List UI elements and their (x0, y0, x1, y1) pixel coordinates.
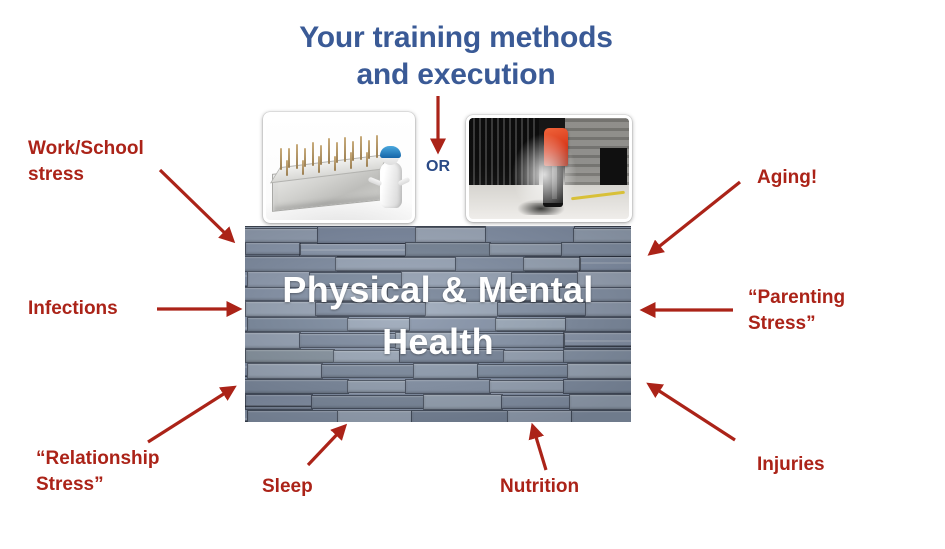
stone-block (571, 410, 631, 422)
rebar-rod-icon (320, 145, 322, 165)
rebar-rod-icon (344, 137, 346, 162)
stone-block (245, 394, 313, 410)
label-work-school-stress: Work/School stress (28, 136, 208, 188)
title-line-2: and execution (236, 57, 676, 94)
arrow-relationship-stress (148, 388, 233, 442)
stone-block (563, 379, 631, 394)
rebar-rod-icon (328, 138, 330, 164)
stone-block (245, 242, 301, 255)
rebar-foundation-image (266, 115, 412, 220)
rebar-rod-icon (302, 160, 304, 175)
label-injuries: Injuries (757, 452, 897, 478)
stone-block (245, 228, 319, 243)
rebar-rod-icon (334, 156, 336, 171)
dust-cloud-shape (511, 132, 578, 203)
title-line-1: Your training methods (299, 21, 613, 54)
stone-block (317, 226, 417, 244)
label-parenting-stress: “Parenting Stress” (748, 285, 928, 337)
stone-block (423, 394, 503, 410)
rebar-rod-icon (304, 148, 306, 167)
label-aging: Aging! (757, 165, 897, 191)
rebar-rod-icon (352, 141, 354, 161)
stone-block (405, 242, 491, 257)
arrow-nutrition (533, 427, 546, 470)
label-sleep: Sleep (262, 474, 382, 500)
stone-block (247, 410, 339, 422)
stone-block (489, 380, 565, 393)
arrow-sleep (308, 427, 344, 465)
stone-block (337, 410, 413, 422)
wall-center-text: Physical & Mental Health (245, 264, 631, 368)
label-nutrition: Nutrition (500, 474, 640, 500)
slide-canvas: Your training methods and execution (0, 0, 945, 549)
stone-block (311, 395, 425, 409)
wall-text-line-2: Health (382, 321, 494, 362)
stone-block (245, 379, 349, 394)
label-relationship-stress: “Relationship Stress” (36, 446, 236, 498)
rebar-rod-icon (350, 152, 352, 169)
stone-block (507, 410, 573, 422)
rebar-rod-icon (368, 140, 370, 159)
rebar-rod-icon (366, 152, 368, 167)
wall-text-line-1: Physical & Mental (282, 269, 593, 310)
label-infections: Infections (28, 296, 188, 322)
arrow-aging (651, 182, 740, 253)
stone-block (569, 394, 631, 410)
rebar-rod-icon (360, 136, 362, 160)
arrow-injuries (650, 385, 735, 440)
stone-block (347, 380, 407, 393)
rebar-rod-icon (312, 142, 314, 166)
stone-block (501, 395, 571, 409)
stone-block (299, 243, 407, 257)
stone-block (573, 228, 631, 243)
jackhammer-demolition-photo (466, 115, 632, 222)
rebar-rod-icon (336, 142, 338, 163)
stone-block (405, 379, 491, 394)
hard-hat-icon (380, 146, 401, 158)
rebar-rod-icon (288, 148, 290, 168)
stone-block (411, 410, 509, 422)
stone-block (489, 243, 563, 256)
jackhammer-demolition-image (469, 118, 629, 219)
rebar-rod-icon (286, 160, 288, 176)
rebar-rod-icon (296, 144, 298, 169)
stone-block (561, 242, 631, 257)
rebar-rod-icon (376, 135, 378, 158)
rebar-foundation-photo (263, 112, 415, 223)
stone-wall-graphic: Physical & Mental Health (245, 226, 631, 422)
rebar-rod-icon (280, 148, 282, 170)
page-title: Your training methods and execution (236, 20, 676, 94)
rebar-rod-icon (318, 156, 320, 173)
stone-block (415, 227, 487, 243)
or-label: OR (426, 158, 450, 176)
